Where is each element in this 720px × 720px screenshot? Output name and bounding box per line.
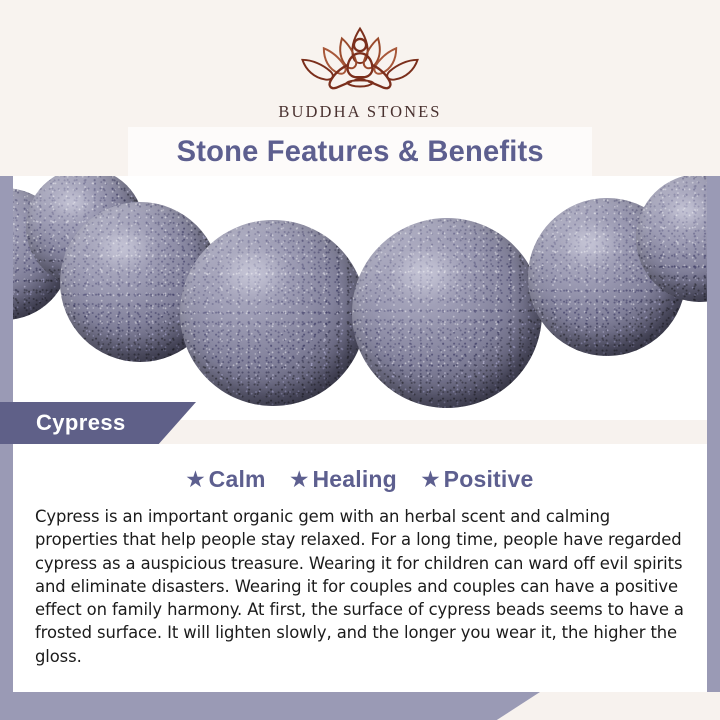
bead xyxy=(180,220,366,406)
title-banner: Stone Features & Benefits xyxy=(128,127,592,176)
benefit-item-positive: ★Positive xyxy=(422,466,534,493)
benefit-item-healing: ★Healing xyxy=(290,466,397,493)
benefits-row: ★Calm ★Healing ★Positive xyxy=(35,466,685,493)
page-title: Stone Features & Benefits xyxy=(176,135,543,169)
star-icon: ★ xyxy=(187,469,205,491)
brand-wordmark: BUDDHA STONES xyxy=(278,102,441,122)
star-icon: ★ xyxy=(290,469,308,491)
benefit-item-calm: ★Calm xyxy=(187,466,266,493)
benefit-label: Healing xyxy=(312,466,396,492)
stone-name-bar: Cypress xyxy=(0,402,196,444)
bead xyxy=(352,218,542,408)
cypress-bar-left-cap xyxy=(0,402,13,444)
stone-bead-photo xyxy=(0,176,720,420)
stone-name-label: Cypress xyxy=(36,410,126,436)
infographic-page: BUDDHA STONES Stone Features & Benefits … xyxy=(0,0,720,720)
bottom-accent-bar xyxy=(0,692,540,720)
benefit-label: Positive xyxy=(444,466,534,492)
description-text: Cypress is an important organic gem with… xyxy=(35,505,685,668)
description-panel: ★Calm ★Healing ★Positive Cypress is an i… xyxy=(13,444,707,692)
lotus-meditation-figure-icon xyxy=(275,22,445,96)
benefit-label: Calm xyxy=(209,466,266,492)
star-icon: ★ xyxy=(422,469,440,491)
photo-canvas xyxy=(0,176,720,420)
